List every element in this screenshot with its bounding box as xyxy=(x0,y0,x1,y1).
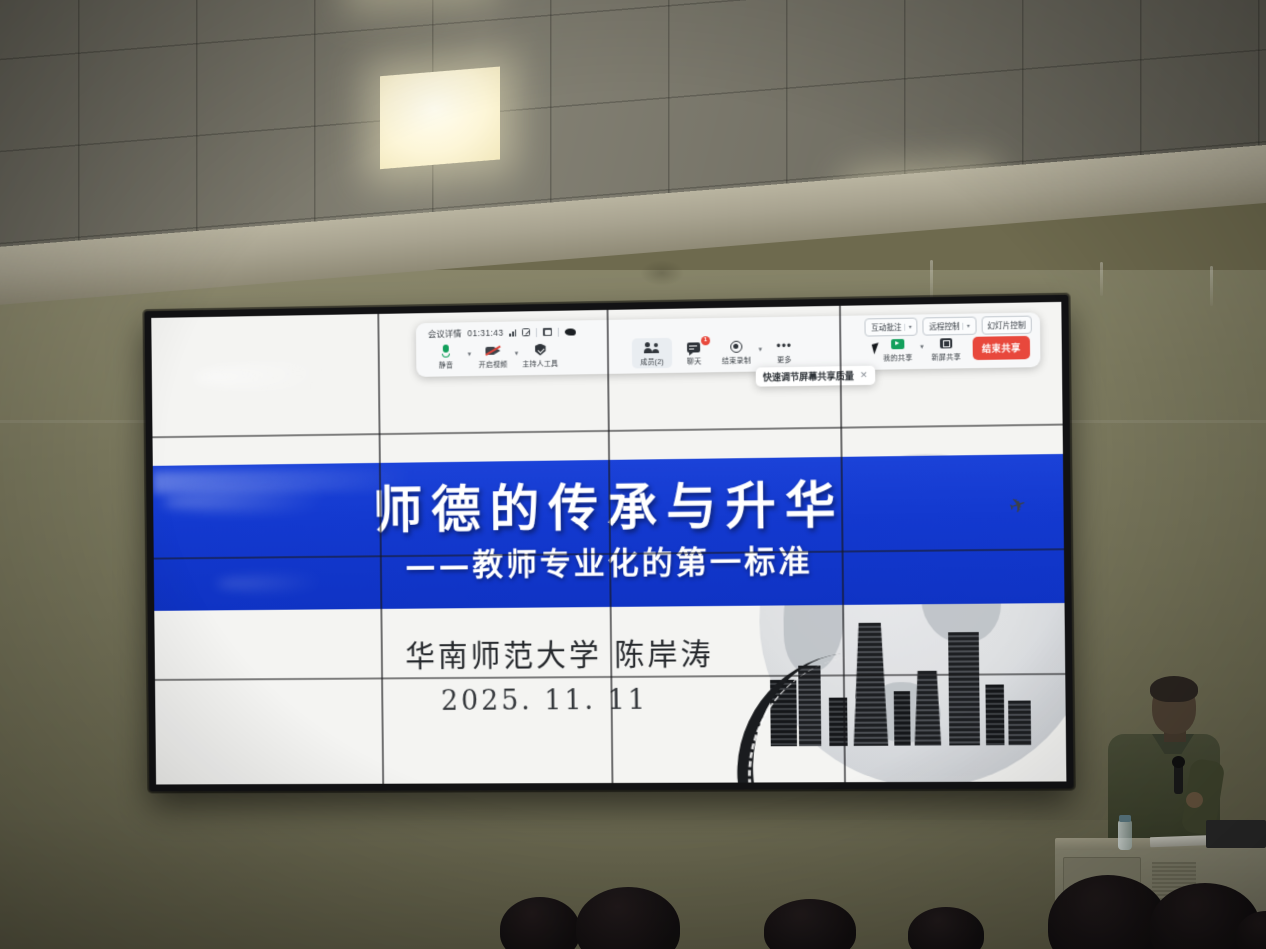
laptop xyxy=(1206,820,1266,848)
more-label: 更多 xyxy=(777,355,792,365)
participants-label: 成员(2) xyxy=(640,357,664,367)
chat-label: 聊天 xyxy=(687,356,702,366)
record-icon xyxy=(730,339,742,354)
new-screen-share-button[interactable]: 新屏共享 xyxy=(926,333,967,364)
chat-button[interactable]: 1 聊天 xyxy=(674,337,714,368)
tooltip-text: 快速调节屏幕共享质量 xyxy=(763,369,854,383)
remote-control-label: 远程控制 xyxy=(929,320,960,332)
chat-icon xyxy=(687,339,700,354)
shield-icon xyxy=(535,342,546,357)
mute-button[interactable]: 静音 xyxy=(426,341,466,371)
signal-bars-icon xyxy=(509,328,516,336)
microphone-icon xyxy=(442,344,450,359)
presentation-slide: 师德的传承与升华 ——教师专业化的第一标准 华南师范大学 陈岸涛 2025. 1… xyxy=(151,302,1066,785)
chevron-down-icon[interactable]: ▾ xyxy=(905,323,912,330)
chevron-down-icon[interactable]: ▾ xyxy=(963,322,970,329)
slide-subtitle: ——教师专业化的第一标准 xyxy=(154,533,1065,587)
mute-label: 静音 xyxy=(439,360,453,370)
people-icon xyxy=(644,340,659,355)
bottle-cap xyxy=(1119,815,1131,822)
lecture-room: 师德的传承与升华 ——教师专业化的第一标准 华南师范大学 陈岸涛 2025. 1… xyxy=(0,0,1266,949)
share-link-icon[interactable] xyxy=(522,328,530,336)
ellipsis-icon: ••• xyxy=(776,338,792,353)
share-quality-tooltip[interactable]: 快速调节屏幕共享质量 ✕ xyxy=(756,366,875,387)
my-share-button[interactable]: 我的共享 xyxy=(877,334,918,365)
screen-icon[interactable] xyxy=(543,328,552,336)
meeting-toolbar[interactable]: 会议详情 01:31:43 互动批注 ▾ 远程控制 xyxy=(416,312,1041,377)
slide-title: 师德的传承与升华 xyxy=(153,462,1064,545)
water-bottle xyxy=(1118,820,1132,850)
more-button[interactable]: ••• 更多 xyxy=(764,336,805,367)
slide-control-pill[interactable]: 幻灯片控制 xyxy=(981,316,1032,335)
host-tools-label: 主持人工具 xyxy=(522,359,558,370)
stop-recording-button[interactable]: 结束录制 xyxy=(716,336,757,367)
stop-recording-label: 结束录制 xyxy=(722,356,751,367)
new-screen-share-label: 新屏共享 xyxy=(931,352,960,363)
my-share-label: 我的共享 xyxy=(883,353,912,364)
presenter-hand xyxy=(1186,792,1203,808)
ceiling-light xyxy=(380,67,500,170)
close-icon[interactable]: ✕ xyxy=(860,370,868,381)
toolbar-center-group[interactable]: 成员(2) 1 聊天 结束录制 ▾ xyxy=(632,336,805,369)
record-chevron-down-icon[interactable]: ▾ xyxy=(758,345,762,353)
microphone-head xyxy=(1172,756,1185,768)
chat-unread-badge: 1 xyxy=(701,336,710,345)
meeting-details-label[interactable]: 会议详情 xyxy=(428,327,462,340)
share-screen-icon xyxy=(891,336,904,351)
camera-off-icon xyxy=(485,343,500,358)
start-video-button[interactable]: 开启视频 xyxy=(473,340,513,371)
meeting-elapsed-time: 01:31:43 xyxy=(467,328,503,339)
share-chevron-down-icon[interactable]: ▾ xyxy=(920,343,924,351)
video-chevron-down-icon[interactable]: ▾ xyxy=(515,349,519,357)
video-wall-screen[interactable]: 师德的传承与升华 ——教师专业化的第一标准 华南师范大学 陈岸涛 2025. 1… xyxy=(151,302,1066,785)
mute-chevron-down-icon[interactable]: ▾ xyxy=(468,350,472,358)
start-video-label: 开启视频 xyxy=(479,360,508,370)
cursor-blob-icon xyxy=(565,328,576,335)
toolbar-left-group[interactable]: 静音 ▾ 开启视频 ▾ 主持人工具 xyxy=(426,340,560,372)
wall-drip xyxy=(1210,266,1213,306)
participants-button[interactable]: 成员(2) xyxy=(632,338,672,369)
toolbar-share-group[interactable]: 我的共享 ▾ 新屏共享 结束共享 xyxy=(877,332,1030,365)
slide-control-label: 幻灯片控制 xyxy=(987,319,1025,331)
presenter-hair xyxy=(1150,676,1198,702)
wall-drip xyxy=(1100,262,1103,296)
new-screen-share-icon xyxy=(940,335,952,350)
host-tools-button[interactable]: 主持人工具 xyxy=(520,340,560,371)
end-share-button[interactable]: 结束共享 xyxy=(973,335,1031,359)
lcd-video-wall[interactable]: 师德的传承与升华 ——教师专业化的第一标准 华南师范大学 陈岸涛 2025. 1… xyxy=(144,295,1073,792)
annotation-label: 互动批注 xyxy=(871,321,902,333)
